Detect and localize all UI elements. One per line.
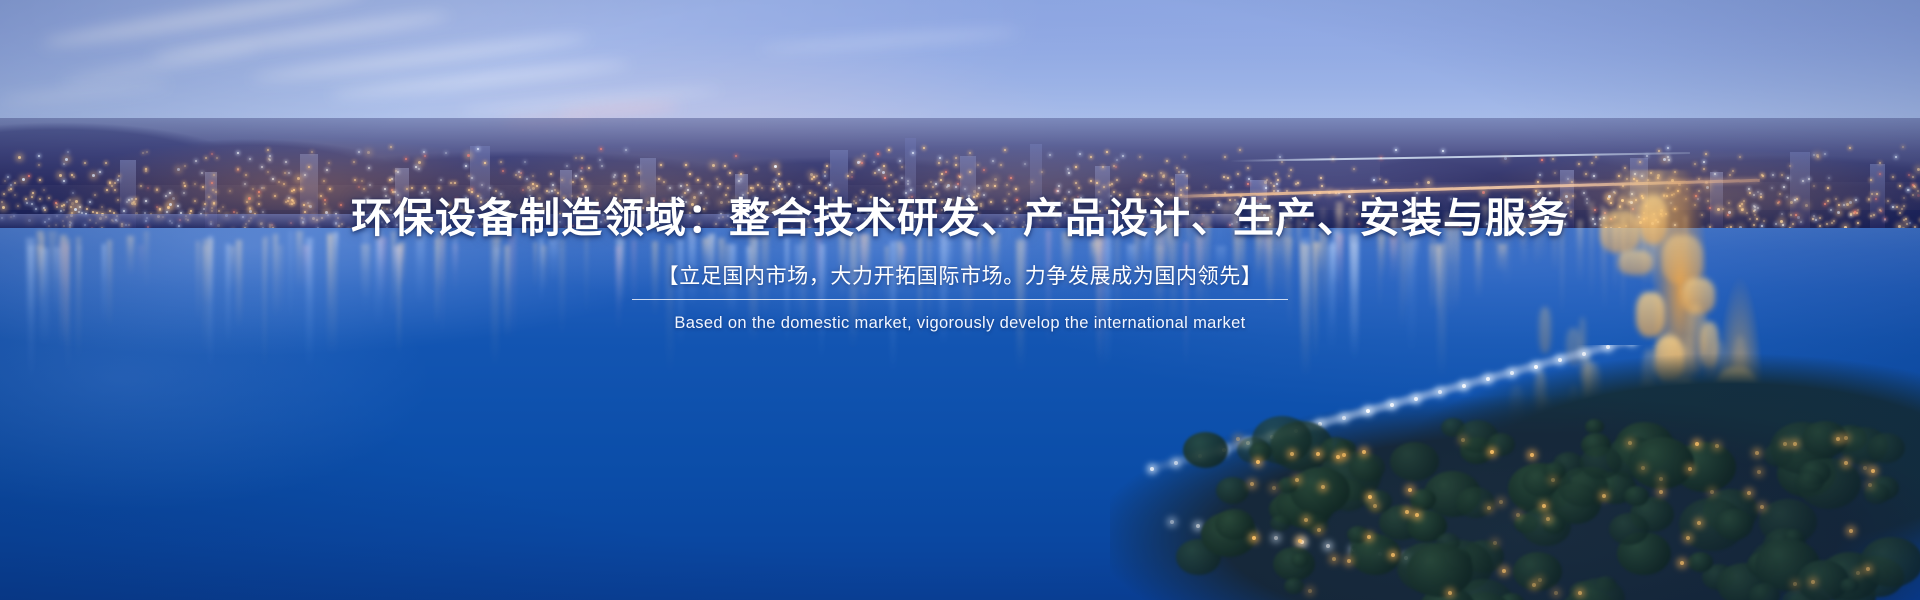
park-peninsula [1110,345,1920,600]
hero-banner: 环保设备制造领域：整合技术研发、产品设计、生产、安装与服务 【立足国内市场，大力… [0,0,1920,600]
